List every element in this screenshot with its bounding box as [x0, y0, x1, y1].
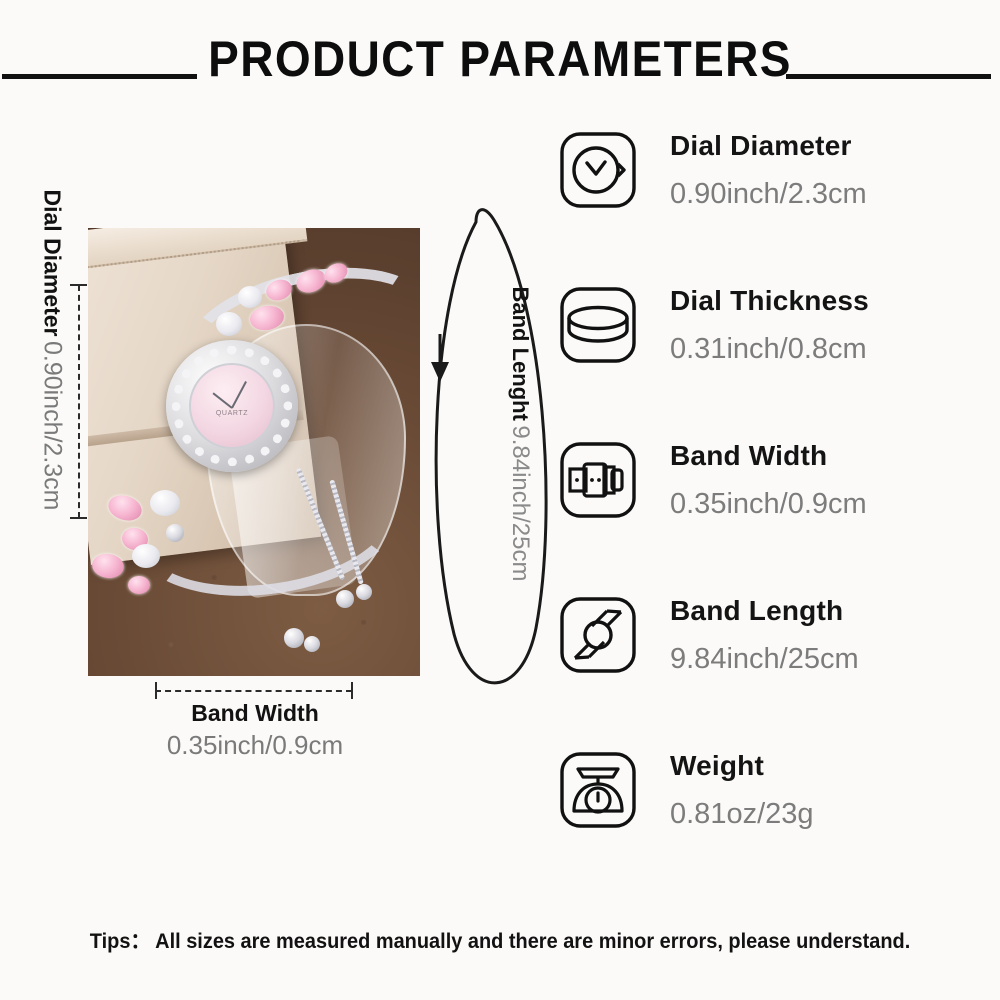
- kitchen-scale-icon: [558, 750, 638, 830]
- specification-list: Dial Diameter 0.90inch/2.3cm Dial Thickn…: [558, 126, 988, 901]
- spec-text-band-length: Band Length 9.84inch/25cm: [638, 591, 988, 677]
- band-length-callout: Band Lenght 9.84inch/25cm: [506, 269, 534, 599]
- spec-text-weight: Weight 0.81oz/23g: [638, 746, 988, 832]
- spec-text-dial-thickness: Dial Thickness 0.31inch/0.8cm: [638, 281, 988, 367]
- dial-diameter-dimension-line: [78, 285, 80, 518]
- spec-text-dial-diameter: Dial Diameter 0.90inch/2.3cm: [638, 126, 988, 212]
- band-width-callout: Band Width 0.35inch/0.9cm: [120, 698, 390, 763]
- bead: [336, 590, 354, 608]
- dial-brand-text: QUARTZ: [205, 410, 259, 417]
- bead: [284, 628, 304, 648]
- spec-row-weight: Weight 0.81oz/23g: [558, 746, 988, 901]
- disc-thickness-icon: [558, 285, 638, 365]
- spec-value: 0.90inch/2.3cm: [670, 177, 988, 212]
- spec-label: Dial Thickness: [670, 283, 988, 318]
- dial-diameter-callout-label: Dial Diameter: [40, 190, 66, 337]
- dial-diameter-callout-value: 0.90inch/2.3cm: [39, 341, 67, 511]
- bead: [166, 524, 184, 542]
- bead: [304, 636, 320, 652]
- spec-label: Band Length: [670, 593, 988, 628]
- watch-strap-diagonal-icon: [558, 595, 638, 675]
- band-width-callout-value: 0.35inch/0.9cm: [120, 729, 390, 763]
- spec-label: Weight: [670, 748, 988, 783]
- spec-value: 0.31inch/0.8cm: [670, 332, 988, 367]
- band-width-dimension-line: [155, 690, 352, 692]
- gem-clear: [132, 544, 160, 568]
- page-title: PRODUCT PARAMETERS: [40, 30, 960, 88]
- band-length-callout-label: Band Lenght: [508, 287, 533, 421]
- spec-row-band-width: Band Width 0.35inch/0.9cm: [558, 436, 988, 591]
- product-photo: QUARTZ: [88, 228, 420, 676]
- band-length-callout-value: 9.84inch/25cm: [507, 425, 534, 581]
- spec-row-dial-thickness: Dial Thickness 0.31inch/0.8cm: [558, 281, 988, 436]
- gem-pink: [128, 576, 150, 594]
- gem-clear: [216, 312, 242, 336]
- spec-row-dial-diameter: Dial Diameter 0.90inch/2.3cm: [558, 126, 988, 281]
- dimension-cap-top: [70, 284, 87, 286]
- gem-clear: [150, 490, 180, 516]
- loop-arrow-icon: [418, 182, 558, 702]
- band-length-loop-arrow: [418, 182, 558, 702]
- watch-band-buckle-icon: [558, 440, 638, 520]
- header: PRODUCT PARAMETERS: [0, 18, 1000, 98]
- spec-row-band-length: Band Length 9.84inch/25cm: [558, 591, 988, 746]
- dial-diameter-callout: Dial Diameter 0.90inch/2.3cm: [38, 190, 67, 420]
- header-rule-right: [786, 74, 991, 79]
- watch-dial-icon: [558, 130, 638, 210]
- spec-value: 9.84inch/25cm: [670, 642, 988, 677]
- product-parameters-infographic: PRODUCT PARAMETERS QUARTZ: [0, 0, 1000, 1000]
- band-width-callout-label: Band Width: [120, 698, 390, 729]
- spec-value: 0.81oz/23g: [670, 797, 988, 832]
- dimension-cap-right: [351, 682, 353, 699]
- bead: [356, 584, 372, 600]
- dimension-cap-bottom: [70, 517, 87, 519]
- spec-text-band-width: Band Width 0.35inch/0.9cm: [638, 436, 988, 522]
- dimension-cap-left: [155, 682, 157, 699]
- spec-label: Dial Diameter: [670, 128, 988, 163]
- gem-clear: [238, 286, 262, 308]
- spec-label: Band Width: [670, 438, 988, 473]
- spec-value: 0.35inch/0.9cm: [670, 487, 988, 522]
- tips-footer: Tips： All sizes are measured manually an…: [25, 925, 975, 955]
